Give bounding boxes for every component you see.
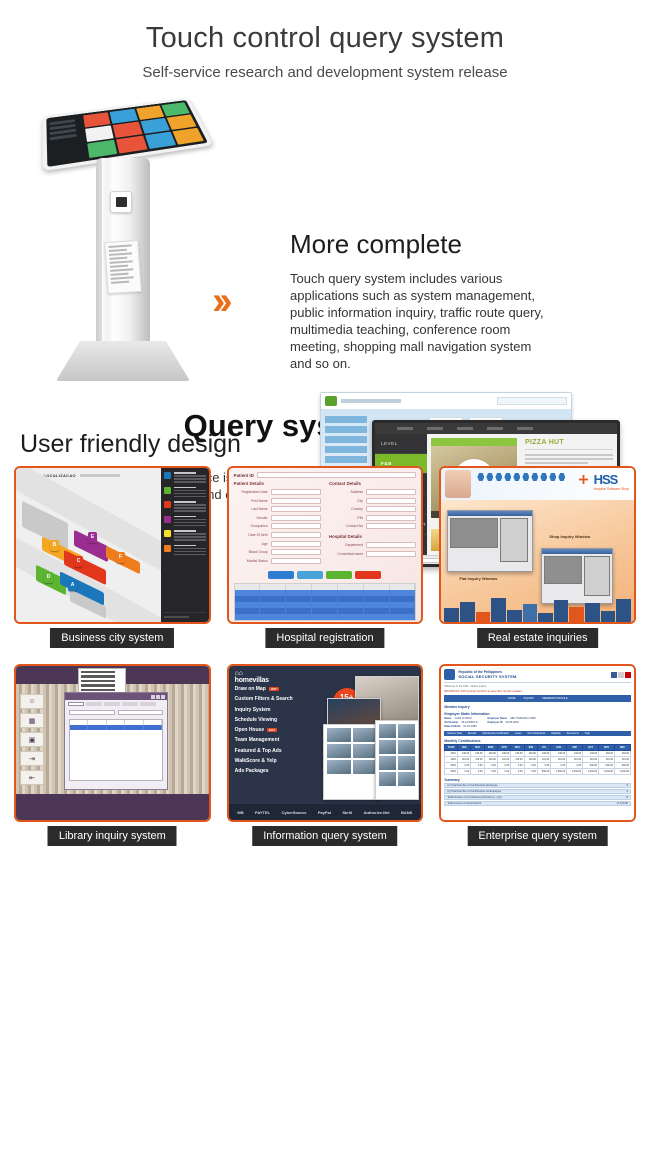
info-value: 01-01-1980 [463, 725, 476, 728]
kiosk-illustration [38, 86, 223, 386]
feature-label: WalkScore & Yelp [235, 758, 277, 764]
feature-section-one: ›› More complete Touch query system incl… [0, 81, 650, 386]
patient-table[interactable] [234, 583, 417, 621]
map-marker[interactable]: C [74, 556, 83, 567]
summary-block: Summary (1) Total Number of Contribution… [444, 778, 631, 806]
form-button[interactable] [297, 571, 323, 579]
section-title: Member Inquiry [444, 705, 631, 709]
results-table[interactable] [69, 719, 163, 781]
case-caption: Hospital registration [265, 628, 384, 648]
info-value: JUAN D CRUZ [454, 717, 471, 720]
legend-item[interactable] [164, 545, 206, 556]
case-caption: Business city system [50, 628, 174, 648]
summary-title: Summary [444, 778, 631, 782]
cases-grid: MAPA DE LOCALIZACAO B E C [0, 466, 650, 852]
government-seal-icon [444, 669, 455, 680]
field-label: Age [234, 542, 268, 546]
library-window[interactable] [64, 692, 168, 790]
case-thumbnail-hospital[interactable]: Patient ID Patient Details Registration … [227, 466, 424, 624]
summary-label: (2) Total Number of Contributions as Emp… [447, 790, 501, 793]
minimize-icon[interactable] [151, 695, 155, 699]
tab-item[interactable]: Eligibility [551, 732, 560, 735]
info-key: Date Of Birth [444, 725, 460, 728]
feature-list-item[interactable]: Inquiry System [235, 707, 327, 713]
table-cell: 1,000.00 [567, 769, 583, 775]
checkin-icon[interactable]: ⇤ [20, 770, 44, 785]
field-input[interactable] [271, 515, 321, 521]
info-field: Employer ID03-00-0001 [487, 721, 536, 724]
kiosk-base [56, 341, 190, 381]
feature-label: Draw on Map [235, 686, 266, 692]
field-input[interactable] [366, 523, 416, 529]
close-icon[interactable] [161, 695, 165, 699]
legend-item[interactable] [164, 516, 206, 527]
youtube-icon[interactable] [625, 672, 631, 678]
table-cell: 1,000.00 [599, 769, 615, 775]
field-input[interactable] [271, 549, 321, 555]
tab-item[interactable]: Benefits [468, 732, 477, 735]
field-label: Gender [234, 516, 268, 520]
info-field: NameJUAN D CRUZ [444, 717, 477, 720]
chevron-right-icon: ›› [212, 281, 227, 321]
feature-label: Inquiry System [235, 707, 271, 713]
kiosk-screen-sidebar [49, 116, 86, 164]
info-key: SS Number [444, 721, 458, 724]
homevillas-logo: ⌂⌂ homevillas [235, 671, 269, 684]
site-nav[interactable]: HOMEINQUIRYMEMBER'S PROFILE [444, 695, 631, 702]
section-heading: Patient Details [234, 481, 321, 486]
table-title: Monthly Contributions [444, 739, 631, 743]
info-key: Employer Name [487, 717, 507, 720]
facebook-icon[interactable] [611, 672, 617, 678]
form-field[interactable]: First Name [234, 498, 321, 504]
case-card[interactable]: ⌂⌂ homevillas Draw on MapHOTCustom Filte… [227, 664, 424, 822]
feature-list-item[interactable]: Schedule Viewing [235, 717, 327, 723]
section-heading: Contact Details [329, 481, 416, 486]
icon-toolbar[interactable]: ☺ ▦ ▣ ⇥ ⇤ [20, 694, 44, 785]
feature-list-item[interactable]: Custom Filters & Search [235, 696, 327, 702]
field-input[interactable] [366, 489, 416, 495]
field-input[interactable] [271, 498, 321, 504]
summary-row: Total Number of Contributions (Period (1… [444, 795, 631, 800]
case-thumbnail-library[interactable]: ☺ ▦ ▣ ⇥ ⇤ [14, 664, 211, 822]
field-label: Registration Date [234, 490, 268, 494]
feature-label: Ads Packages [235, 768, 269, 774]
field-input[interactable] [366, 551, 416, 557]
form-field[interactable]: PIN [329, 515, 416, 521]
flat-inquiry-window[interactable] [447, 510, 533, 572]
map-marker[interactable]: E [88, 532, 97, 543]
summary-row: (1) Total Number of Contributions Employ… [444, 783, 631, 788]
info-value: 03-00-0001 [506, 721, 519, 724]
checkout-icon[interactable]: ⇥ [20, 751, 44, 766]
feature-label: Featured & Top Ads [235, 748, 282, 754]
shop-window-label: Shop Inquiry Window [549, 534, 590, 539]
form-field[interactable]: Contact No [329, 523, 416, 529]
field-label: First Name [234, 499, 268, 503]
payment-logos: MBPAYTELCyberSourcePayPalSkrillAuthorize… [229, 804, 422, 820]
feature-label: Open House [235, 727, 264, 733]
form-field[interactable]: Age [234, 541, 321, 547]
kiosk-scanner-icon [110, 191, 132, 213]
case-caption: Real estate inquiries [477, 628, 599, 648]
field-input[interactable] [271, 489, 321, 495]
field-label: Occupation [234, 524, 268, 528]
info-field: Employer NameABC TRADING CORP [487, 717, 536, 720]
screenshot-stack [323, 676, 419, 796]
field-input[interactable] [271, 558, 321, 564]
payment-logo: PAYTEL [255, 810, 270, 815]
case-thumbnail-information-query[interactable]: ⌂⌂ homevillas Draw on MapHOTCustom Filte… [227, 664, 424, 822]
form-field[interactable]: Marital Status [234, 558, 321, 564]
table-cell: 500.00 [537, 769, 550, 775]
field-input[interactable] [271, 506, 321, 512]
tab-item[interactable]: Membership Certification [482, 732, 508, 735]
form-field[interactable]: Country [329, 506, 416, 512]
legend-item[interactable] [164, 487, 206, 498]
feature-body: Touch query system includes various appl… [290, 270, 550, 372]
field-label: Contact No [329, 524, 363, 528]
info-field: Date Of Birth01-01-1980 [444, 725, 477, 728]
inquiry-tabs[interactable]: Member DataBenefitsMembership Certificat… [444, 731, 631, 736]
page-subtitle: Self-service research and development sy… [0, 64, 650, 81]
hot-badge: HOT [267, 728, 277, 732]
map-marker[interactable]: B [50, 540, 59, 551]
table-row [235, 614, 416, 620]
search-input[interactable] [497, 397, 567, 405]
feature-heading: User friendly design [20, 430, 265, 459]
feature-list-item[interactable]: WalkScore & Yelp [235, 758, 327, 764]
case-caption: Enterprise query system [467, 826, 608, 846]
form-field[interactable]: Address [329, 489, 416, 495]
field-input[interactable] [366, 542, 416, 548]
form-action-buttons[interactable] [234, 571, 417, 579]
payment-logo: BANK [401, 810, 413, 815]
case-thumbnail-business-city[interactable]: MAPA DE LOCALIZACAO B E C [14, 466, 211, 624]
case-card[interactable]: Patient ID Patient Details Registration … [227, 466, 424, 624]
info-key: Employer ID [487, 721, 502, 724]
map-legend-panel[interactable] [161, 468, 209, 622]
kiosk-screen-tiles [83, 102, 204, 158]
tab-item[interactable]: Documents [567, 732, 579, 735]
table-cell: 1,000.00 [614, 769, 630, 775]
table-cell: 0.00 [471, 769, 484, 775]
field-label: Last Name [234, 507, 268, 511]
feature-list-item[interactable]: Open HouseHOT [235, 727, 327, 733]
summary-value: 8 [627, 796, 628, 799]
city-skyline [441, 596, 634, 622]
form-field[interactable]: Department [329, 542, 416, 548]
summary-row: (2) Total Number of Contributions as Emp… [444, 789, 631, 794]
summary-label: (1) Total Number of Contributions Employ… [447, 784, 497, 787]
kiosk-tile[interactable] [87, 140, 117, 158]
payment-logo: CyberSource [282, 810, 307, 815]
payment-logo: PayPal [318, 810, 331, 815]
feature-list[interactable]: Draw on MapHOTCustom Filters & SearchInq… [235, 686, 327, 774]
feature-label: Custom Filters & Search [235, 696, 293, 702]
table-row [70, 725, 162, 730]
hot-badge: HOT [269, 687, 279, 691]
legend-item[interactable] [164, 530, 206, 541]
case-card[interactable]: MAPA DE LOCALIZACAO B E C [14, 466, 211, 624]
case-card[interactable]: Republic of the Philippines SOCIAL SECUR… [439, 664, 636, 822]
map-marker[interactable]: D [44, 572, 53, 583]
window-tabs[interactable] [65, 700, 167, 708]
feature-list-item[interactable]: Team Management [235, 737, 327, 743]
mall-menu-item[interactable]: LEVEL [375, 434, 427, 454]
field-label: Address [329, 490, 363, 494]
flat-window-label: Flat Inquiry Window [459, 576, 497, 581]
form-button[interactable] [355, 571, 381, 579]
field-label: City [329, 499, 363, 503]
case-thumbnail-enterprise-query[interactable]: Republic of the Philippines SOCIAL SECUR… [439, 664, 636, 822]
field-label: Consultant name [329, 552, 363, 556]
feature-more-complete: More complete Touch query system include… [290, 229, 550, 372]
subsection-title: Employer Static Information [444, 712, 631, 716]
tab-item[interactable]: Loans [515, 732, 522, 735]
summary-label: Total Amount of Contributions [447, 802, 481, 805]
search-row[interactable] [65, 708, 167, 717]
patient-id-label: Patient ID [234, 473, 254, 478]
field-input[interactable] [366, 498, 416, 504]
leaf-logo-icon [325, 396, 337, 406]
kiosk-tile[interactable] [172, 128, 204, 145]
doctor-photo [445, 470, 471, 498]
page-header: Touch control query system Self-service … [0, 0, 650, 81]
info-key: Name [444, 717, 451, 720]
field-label: Department [329, 543, 363, 547]
social-links[interactable] [611, 672, 631, 678]
info-field: SS Number03-1234567-8 [444, 721, 477, 724]
form-field[interactable]: Date Of birth [234, 532, 321, 538]
table-cell: 0.00 [484, 769, 497, 775]
city-map: MAPA DE LOCALIZACAO B E C [16, 468, 161, 622]
form-field[interactable]: Blood Group [234, 549, 321, 555]
payment-logo: MB [237, 810, 243, 815]
form-field[interactable]: City [329, 498, 416, 504]
table-cell: 0.00 [497, 769, 510, 775]
case-thumbnail-real-estate[interactable]: HSS Hospital Software Shop Flat Inquiry … [439, 466, 636, 624]
page-title: Touch control query system [0, 22, 650, 55]
form-button[interactable] [268, 571, 294, 579]
maximize-icon[interactable] [156, 695, 160, 699]
nav-item[interactable]: INQUIRY [523, 697, 534, 700]
form-field[interactable]: Gender [234, 515, 321, 521]
form-field[interactable]: Last Name [234, 506, 321, 512]
info-value: 03-1234567-8 [461, 721, 477, 724]
summary-value: 5 [627, 784, 628, 787]
contributions-table: YEARJANFEBMARAPRMAYJUNJULAUGSEPOCTNOVDEC… [444, 744, 631, 775]
legend-item[interactable] [164, 501, 206, 512]
legend-item[interactable] [164, 472, 206, 483]
feature-list-item[interactable]: Draw on MapHOT [235, 686, 327, 692]
table-cell: 1,000.00 [551, 769, 567, 775]
table-cell: 2018 [445, 769, 458, 775]
feature-label: Schedule Viewing [235, 717, 277, 723]
book-icon[interactable]: ▦ [20, 713, 44, 728]
summary-row: Total Amount of Contributions17,120.00 [444, 801, 631, 806]
field-label: Date Of birth [234, 533, 268, 537]
map-marker[interactable]: A [68, 580, 77, 591]
payment-logo: Authorize.Net [364, 810, 390, 815]
summary-value: 17,120.00 [616, 802, 628, 805]
summary-label: Total Number of Contributions (Period (1… [447, 796, 501, 799]
info-value: ABC TRADING CORP [510, 717, 536, 720]
table-row: 20180.000.000.000.000.000.00500.001,000.… [445, 769, 631, 775]
medical-cross-icon [579, 475, 588, 484]
table-cell: 1,000.00 [583, 769, 599, 775]
field-input[interactable] [366, 515, 416, 521]
summary-value: 3 [627, 790, 628, 793]
important-note: IMPORTANT: SSS reminds members to keep t… [444, 690, 631, 693]
feature-heading: More complete [290, 229, 550, 260]
welcome-text: Welcome to the SSS - Online Inquiry [444, 685, 631, 688]
case-caption: Library inquiry system [48, 826, 177, 846]
field-input[interactable] [366, 506, 416, 512]
kiosk-printed-card [104, 240, 142, 294]
case-card[interactable]: HSS Hospital Software Shop Flat Inquiry … [439, 466, 636, 624]
field-label: PIN [329, 516, 363, 520]
tab-item[interactable]: Member Data [447, 732, 461, 735]
form-button[interactable] [326, 571, 352, 579]
legend-footer [164, 612, 206, 618]
system-label: SOCIAL SECURITY SYSTEM [458, 674, 516, 679]
nav-item[interactable]: HOME [508, 697, 516, 700]
field-input[interactable] [271, 532, 321, 538]
patient-id-input[interactable] [257, 472, 416, 478]
user-icon[interactable]: ☺ [20, 694, 44, 709]
kiosk-tile[interactable] [145, 132, 176, 149]
feature-list-item[interactable]: Ads Packages [235, 768, 327, 774]
breadcrumb [341, 399, 401, 403]
field-label: Country [329, 507, 363, 511]
case-card[interactable]: ☺ ▦ ▣ ⇥ ⇤ Library inquiry system [14, 664, 211, 822]
table-cell: 0.00 [457, 769, 470, 775]
kiosk-tile[interactable] [116, 136, 147, 154]
payment-logo: Skrill [342, 810, 352, 815]
form-field[interactable]: Registration Date [234, 489, 321, 495]
section-heading: Hospital Details [329, 534, 416, 539]
hexagon-pattern-icon [477, 473, 565, 481]
field-label: Blood Group [234, 550, 268, 554]
tab-item[interactable]: Help [585, 732, 590, 735]
table-cell: 0.00 [524, 769, 537, 775]
form-field[interactable]: Occupation [234, 523, 321, 529]
tab-item[interactable]: SS Contributions [527, 732, 545, 735]
feature-label: Team Management [235, 737, 280, 743]
form-field[interactable]: Consultant name [329, 551, 416, 557]
detail-title: PIZZA HUT [525, 439, 613, 446]
twitter-icon[interactable] [618, 672, 624, 678]
field-label: Marital Status [234, 559, 268, 563]
feature-list-item[interactable]: Featured & Top Ads [235, 748, 327, 754]
map-marker[interactable]: F [116, 552, 125, 563]
field-input[interactable] [271, 541, 321, 547]
field-input[interactable] [271, 523, 321, 529]
hss-logo: HSS Hospital Software Shop [594, 472, 629, 491]
table-cell: 0.00 [511, 769, 524, 775]
case-caption: Information query system [252, 826, 398, 846]
nav-item[interactable]: MEMBER'S PROFILE [542, 697, 567, 700]
mall-toolbar [375, 423, 617, 434]
card-icon[interactable]: ▣ [20, 732, 44, 747]
